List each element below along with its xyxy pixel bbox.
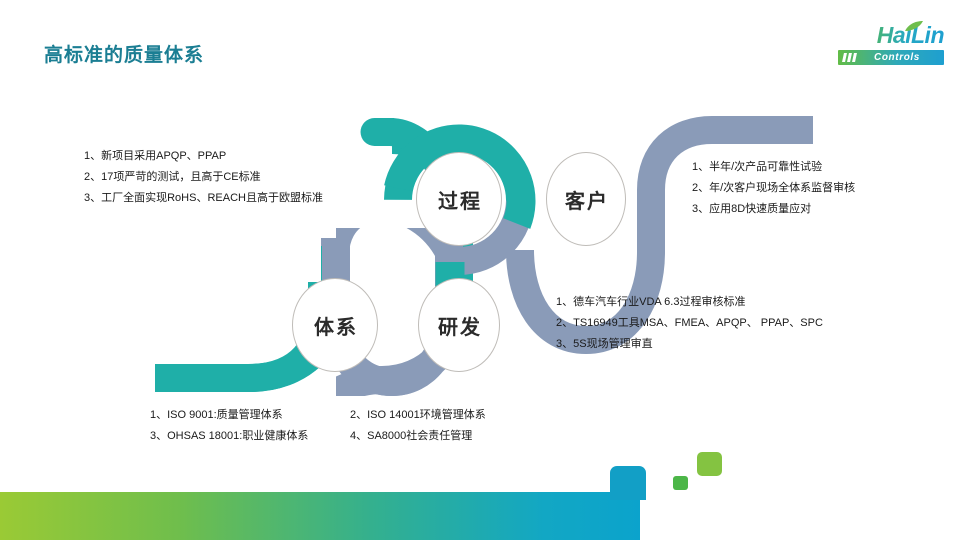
system-line-3: 3、OHSAS 18001:职业健康体系: [150, 426, 350, 447]
text-block-system: 1、ISO 9001:质量管理体系 2、ISO 14001环境管理体系 3、OH…: [150, 405, 486, 447]
system-line-2: 2、ISO 14001环境管理体系: [350, 405, 486, 426]
logo-subbrand: Controls: [838, 50, 944, 65]
process-ribbon-diagram: [0, 0, 960, 540]
customer-line-1: 1、半年/次产品可靠性试验: [692, 157, 855, 178]
customer-line-3: 3、应用8D快速质量应对: [692, 199, 855, 220]
node-rd-label: 研发: [436, 311, 482, 340]
logo-subbrand-text: Controls: [856, 52, 944, 63]
process-line-2: 2、TS16949工具MSA、FMEA、APQP、 PPAP、SPC: [556, 313, 823, 334]
footer-step-block: [610, 466, 646, 492]
system-row: 1、ISO 9001:质量管理体系 2、ISO 14001环境管理体系: [150, 405, 486, 426]
node-process[interactable]: 过程: [416, 152, 502, 246]
leaf-icon: [904, 21, 924, 32]
process-line-3: 3、5S现场管理审直: [556, 334, 823, 355]
node-customer-label: 客户: [563, 185, 609, 214]
text-block-process: 1、德车汽车行业VDA 6.3过程审核标准 2、TS16949工具MSA、FME…: [556, 292, 823, 355]
node-system-label: 体系: [312, 311, 358, 340]
page-title: 高标准的质量体系: [44, 40, 204, 67]
process-line-1: 1、德车汽车行业VDA 6.3过程审核标准: [556, 292, 823, 313]
node-process-label: 过程: [436, 185, 482, 214]
customer-line-2: 2、年/次客户现场全体系监督审核: [692, 178, 855, 199]
text-block-customer: 1、半年/次产品可靠性试验 2、年/次客户现场全体系监督审核 3、应用8D快速质…: [692, 157, 855, 220]
decorative-square-green-large: [697, 452, 722, 476]
node-customer[interactable]: 客户: [546, 152, 626, 246]
logo-wordmark: HaiLin: [818, 22, 944, 48]
footer-gradient-bar: [0, 492, 640, 540]
design-line-1: 1、新项目采用APQP、PPAP: [84, 146, 323, 167]
system-row: 3、OHSAS 18001:职业健康体系 4、SA8000社会责任管理: [150, 426, 486, 447]
node-rd[interactable]: 研发: [418, 278, 500, 372]
design-line-2: 2、17项严苛的测试，且高于CE标准: [84, 167, 323, 188]
text-block-design: 1、新项目采用APQP、PPAP 2、17项严苛的测试，且高于CE标准 3、工厂…: [84, 146, 323, 209]
company-logo: HaiLin Controls: [818, 22, 944, 68]
system-line-1: 1、ISO 9001:质量管理体系: [150, 405, 350, 426]
decorative-square-green-small: [673, 476, 688, 490]
design-line-3: 3、工厂全面实现RoHS、REACH且高于欧盟标准: [84, 188, 323, 209]
system-line-4: 4、SA8000社会责任管理: [350, 426, 472, 447]
node-system[interactable]: 体系: [292, 278, 378, 372]
